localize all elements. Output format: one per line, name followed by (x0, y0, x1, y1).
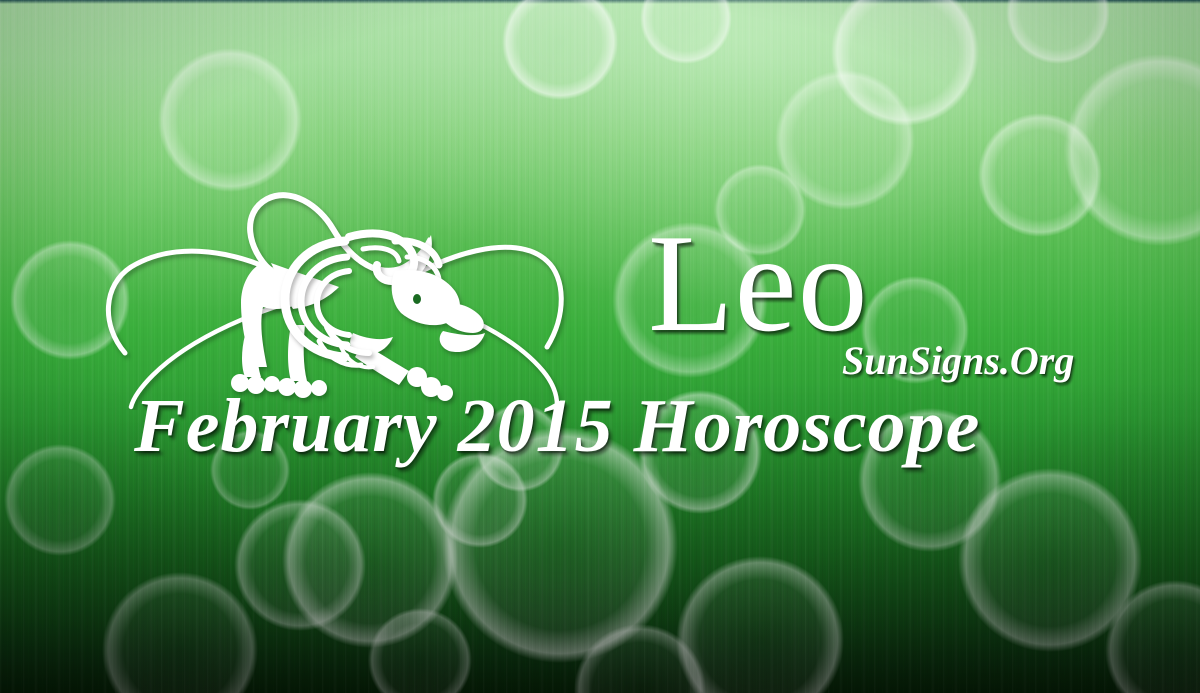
leo-lion-icon (95, 175, 575, 410)
page-title: February 2015 Horoscope (134, 388, 980, 464)
zodiac-horoscope-banner: Leo SunSigns.Org February 2015 Horoscope (0, 0, 1200, 693)
site-brand-watermark: SunSigns.Org (842, 341, 1074, 381)
zodiac-sign-name: Leo (648, 214, 869, 354)
